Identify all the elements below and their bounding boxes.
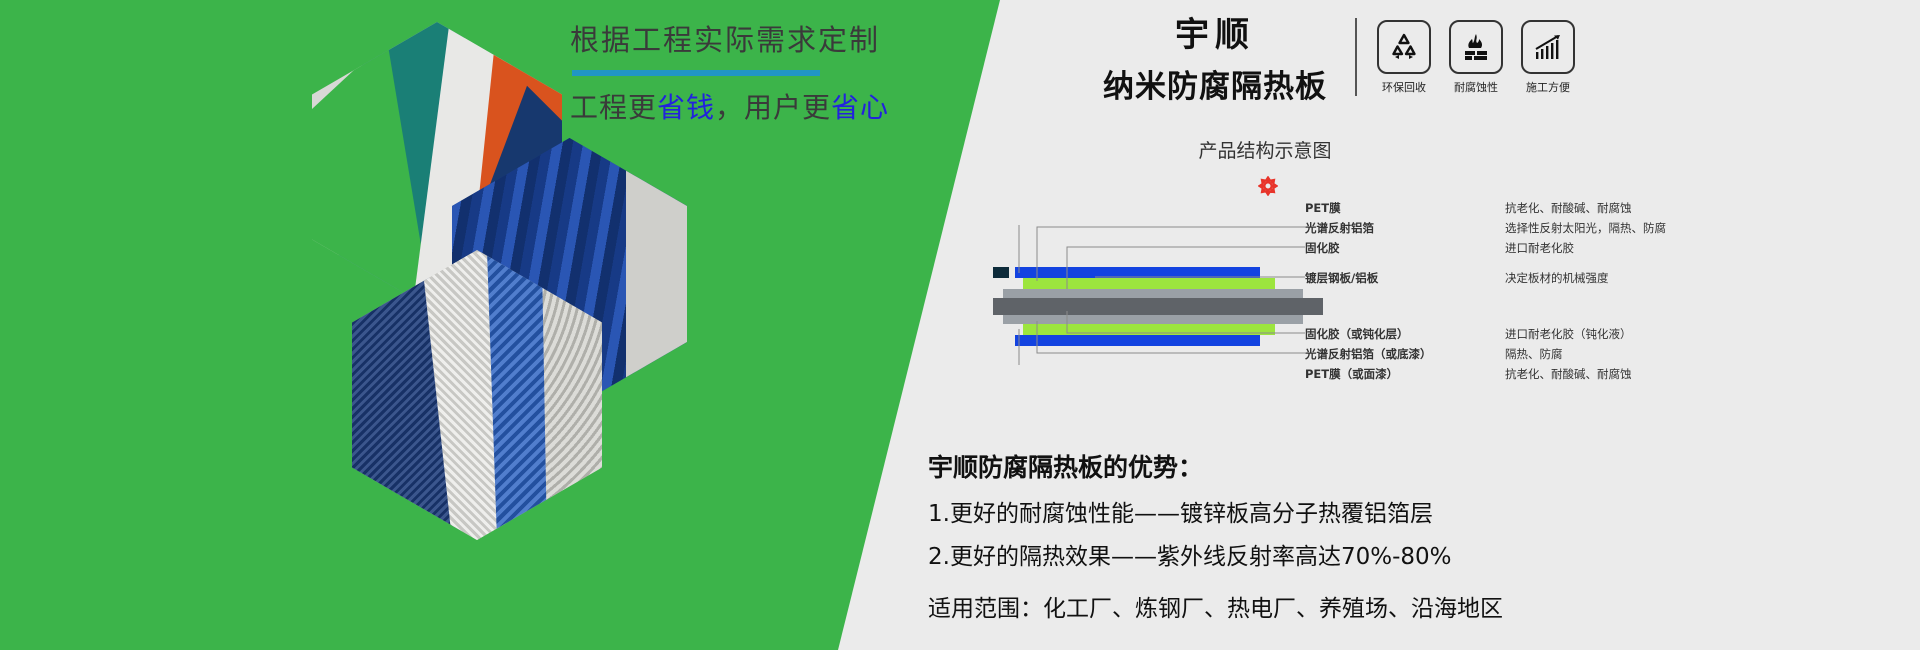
headline-secondary: 工程更省钱，用户更省心 [570, 86, 890, 126]
fire-brick-icon [1449, 20, 1503, 74]
layer-desc-3: 进口耐老化胶 [1505, 240, 1765, 256]
structure-diagram: PET膜 抗老化、耐酸碱、耐腐蚀 光谱反射铝箔 选择性反射太阳光，隔热、防腐 固… [975, 225, 1615, 365]
headline-rule [572, 70, 820, 76]
layer-desc-5: 进口耐老化胶（钝化液） [1505, 326, 1765, 342]
brand-subtitle: 纳米防腐隔热板 [1090, 61, 1340, 106]
flower-ornament-icon [1258, 176, 1278, 201]
headline-secondary-prefix: 工程更 [570, 91, 657, 124]
layer-desc-1: 抗老化、耐酸碱、耐腐蚀 [1505, 200, 1765, 216]
headline-primary: 根据工程实际需求定制 [570, 22, 890, 58]
layer-label-2: 光谱反射铝箔 [1305, 220, 1495, 236]
layer-desc-6: 隔热、防腐 [1505, 346, 1765, 362]
advantages-title-text: 宇顺防腐隔热板的优势 [928, 453, 1178, 482]
advantages-title-colon: ： [1178, 453, 1203, 482]
badge-corrosion-resistance: 耐腐蚀性 [1447, 20, 1505, 95]
feature-badges: 环保回收 耐腐蚀性 [1375, 20, 1577, 95]
brand-name: 宇顺 [1090, 14, 1340, 57]
badge-corrosion-resistance-label: 耐腐蚀性 [1447, 79, 1505, 95]
layer-label-1: PET膜 [1305, 200, 1495, 216]
layer-pet-film-top [1015, 267, 1260, 278]
layer-adhesive-bottom [1003, 315, 1303, 324]
layer-reflective-foil-bottom [1023, 324, 1275, 335]
advantages-block: 宇顺防腐隔热板的优势： 1.更好的耐腐蚀性能——镀锌板高分子热覆铝箔层 2.更好… [928, 448, 1688, 623]
layer-desc-7: 抗老化、耐酸碱、耐腐蚀 [1505, 366, 1765, 382]
badge-recycle-label: 环保回收 [1375, 79, 1433, 95]
layer-reflective-foil-top [1023, 278, 1275, 289]
layer-label-5: 固化胶（或钝化层） [1305, 326, 1495, 342]
left-copy-block: 根据工程实际需求定制 工程更省钱，用户更省心 [570, 22, 890, 126]
layer-label-4: 镀层钢板/铝板 [1305, 270, 1495, 286]
headline-accent-peace-of-mind: 省心 [831, 91, 889, 124]
structure-diagram-title: 产品结构示意图 [1145, 136, 1385, 163]
headline-accent-save-money: 省钱 [657, 91, 715, 124]
growth-chart-icon [1521, 20, 1575, 74]
layer-desc-2: 选择性反射太阳光，隔热、防腐 [1505, 220, 1765, 236]
badge-easy-install-label: 施工方便 [1519, 79, 1577, 95]
advantage-item-1: 1.更好的耐腐蚀性能——镀锌板高分子热覆铝箔层 [928, 494, 1688, 528]
banner-stage: 根据工程实际需求定制 工程更省钱，用户更省心 宇顺 纳米防腐隔热板 [0, 0, 1920, 650]
layer-adhesive-top [1003, 289, 1303, 298]
layer-label-6: 光谱反射铝箔（或底漆） [1305, 346, 1495, 362]
layer-desc-4: 决定板材的机械强度 [1505, 270, 1765, 286]
badge-easy-install: 施工方便 [1519, 20, 1577, 95]
brand-divider [1355, 18, 1357, 96]
recycle-icon [1377, 20, 1431, 74]
advantages-scope: 适用范围：化工厂、炼钢厂、热电厂、养殖场、沿海地区 [928, 589, 1688, 623]
layer-steel-core [993, 298, 1323, 315]
brand-block: 宇顺 纳米防腐隔热板 [1090, 14, 1340, 106]
layer-label-7: PET膜（或面漆） [1305, 366, 1495, 382]
badge-recycle: 环保回收 [1375, 20, 1433, 95]
headline-secondary-middle: ，用户更 [715, 91, 831, 124]
layer-edge-cap [993, 267, 1009, 278]
layer-pet-film-bottom [1015, 335, 1260, 346]
advantage-item-2: 2.更好的隔热效果——紫外线反射率高达70%-80% [928, 537, 1688, 571]
layer-label-3: 固化胶 [1305, 240, 1495, 256]
advantages-title: 宇顺防腐隔热板的优势： [928, 448, 1688, 484]
